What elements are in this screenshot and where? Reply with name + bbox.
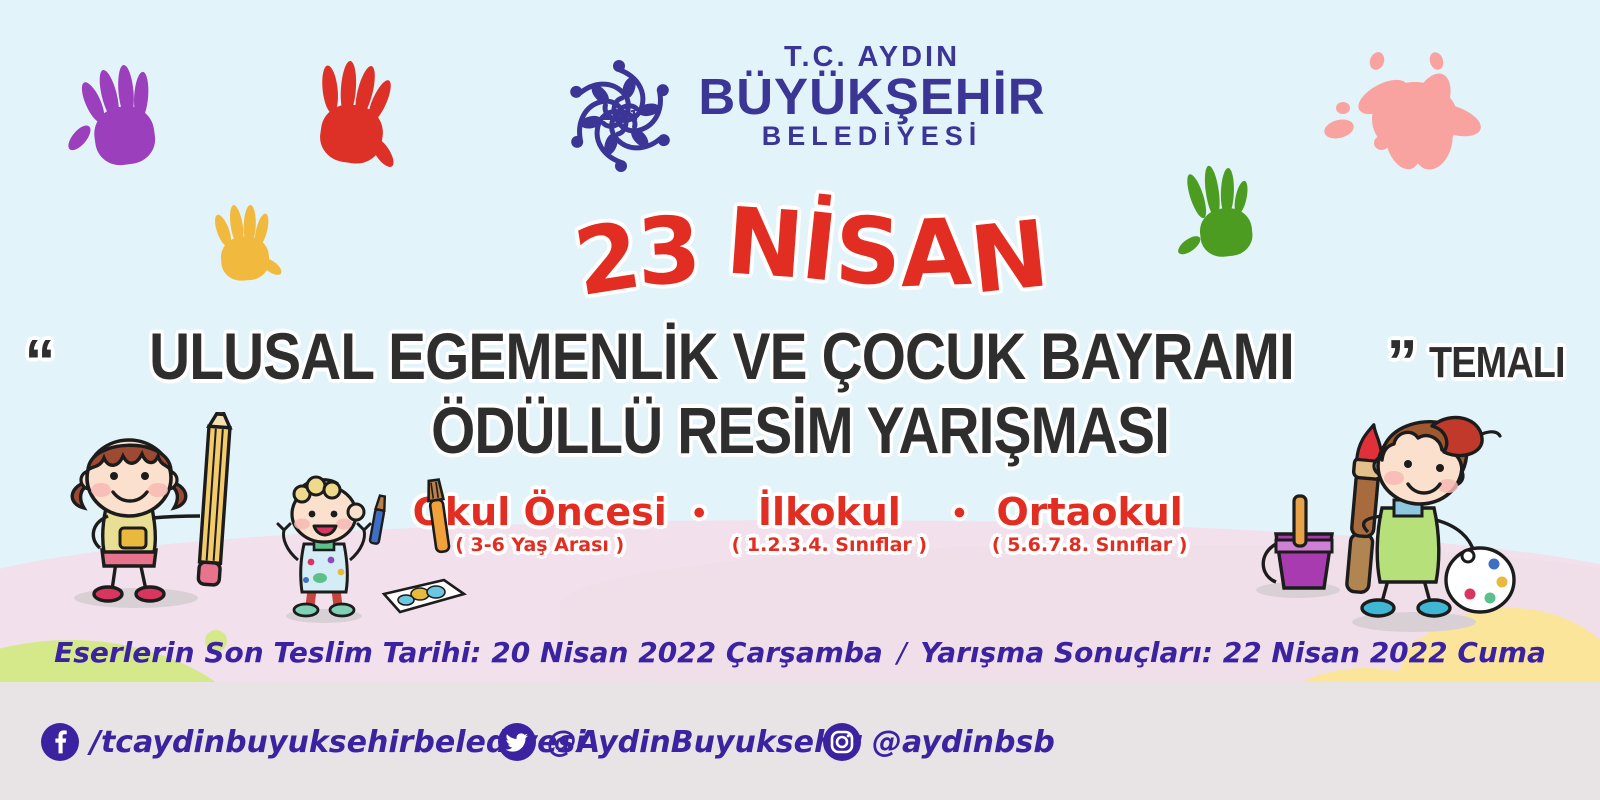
- headline-date-char: A: [898, 199, 972, 308]
- social-link-instagram[interactable]: @aydinbsb: [822, 722, 1055, 762]
- twitter-handle: @AydinBuyuksehir: [547, 725, 860, 760]
- brand-wordmark: T.C. AYDIN BÜYÜKŞEHİR BELEDİYESİ: [692, 42, 1052, 152]
- category-age-range: ( 3-6 Yaş Arası ): [455, 534, 624, 556]
- handprint-purple-icon: [65, 55, 189, 179]
- category-name: İlkokul: [758, 490, 901, 534]
- quote-close: ”: [1387, 328, 1418, 397]
- category-separator-dot: •: [954, 492, 966, 535]
- headline-date-char: 3: [634, 196, 703, 306]
- paint-splatter-pink-icon: [1330, 50, 1500, 180]
- girl-with-pencil-illustration: [28, 412, 248, 612]
- municipality-emblem-icon: 1881: [556, 52, 684, 180]
- submission-deadline: Eserlerin Son Teslim Tarihi: 20 Nisan 20…: [54, 636, 883, 669]
- headline-contest-text: ÖDÜLLÜ RESİM YARIŞMASI: [431, 392, 1169, 468]
- headline-date: 23NİSAN: [0, 196, 1600, 303]
- headline-date-char: N: [966, 200, 1053, 314]
- social-link-twitter[interactable]: @AydinBuyuksehir: [497, 722, 860, 762]
- brand-line-belediyesi: BELEDİYESİ: [692, 122, 1052, 152]
- emblem-year: 1881: [602, 109, 638, 124]
- category-grade-range: ( 5.6.7.8. Sınıflar ): [992, 534, 1187, 556]
- headline-theme-suffix: TEMALI: [1429, 338, 1565, 388]
- quote-open: “: [25, 328, 56, 397]
- footer-contact-bar: /tcaydinbuyuksehirbelediyesi @AydinBuyuk…: [0, 682, 1600, 800]
- toddler-with-drawing-illustration: [268, 468, 478, 628]
- twitter-icon: [497, 722, 537, 762]
- brand-line-buyuksehir: BÜYÜKŞEHİR: [692, 70, 1052, 123]
- category-ortaokul: Ortaokul ( 5.6.7.8. Sınıflar ): [992, 492, 1187, 556]
- boy-with-paintbrush-illustration: [1236, 404, 1526, 644]
- headline-date-char: N: [722, 187, 805, 299]
- handprint-red-icon: [298, 53, 425, 182]
- category-ilkokul: İlkokul ( 1.2.3.4. Sınıflar ): [732, 492, 927, 556]
- headline-date-char: 2: [567, 202, 646, 318]
- poster-canvas: 1881 T.C. AYDIN BÜYÜKŞEHİR BELEDİYESİ 23…: [0, 0, 1600, 800]
- category-separator-dot: •: [693, 492, 705, 535]
- facebook-icon: [40, 722, 80, 762]
- headline-title-line-1: “ULUSAL EGEMENLİK VE ÇOCUK BAYRAMI”TEMAL…: [0, 318, 1600, 398]
- instagram-handle: @aydinbsb: [872, 725, 1055, 760]
- category-name: Ortaokul: [996, 490, 1182, 534]
- category-grade-range: ( 1.2.3.4. Sınıflar ): [732, 534, 927, 556]
- instagram-icon: [822, 722, 862, 762]
- dates-separator: /: [897, 636, 906, 669]
- headline-theme-text: ULUSAL EGEMENLİK VE ÇOCUK BAYRAMI: [149, 318, 1294, 394]
- headline-date-char: S: [833, 197, 902, 306]
